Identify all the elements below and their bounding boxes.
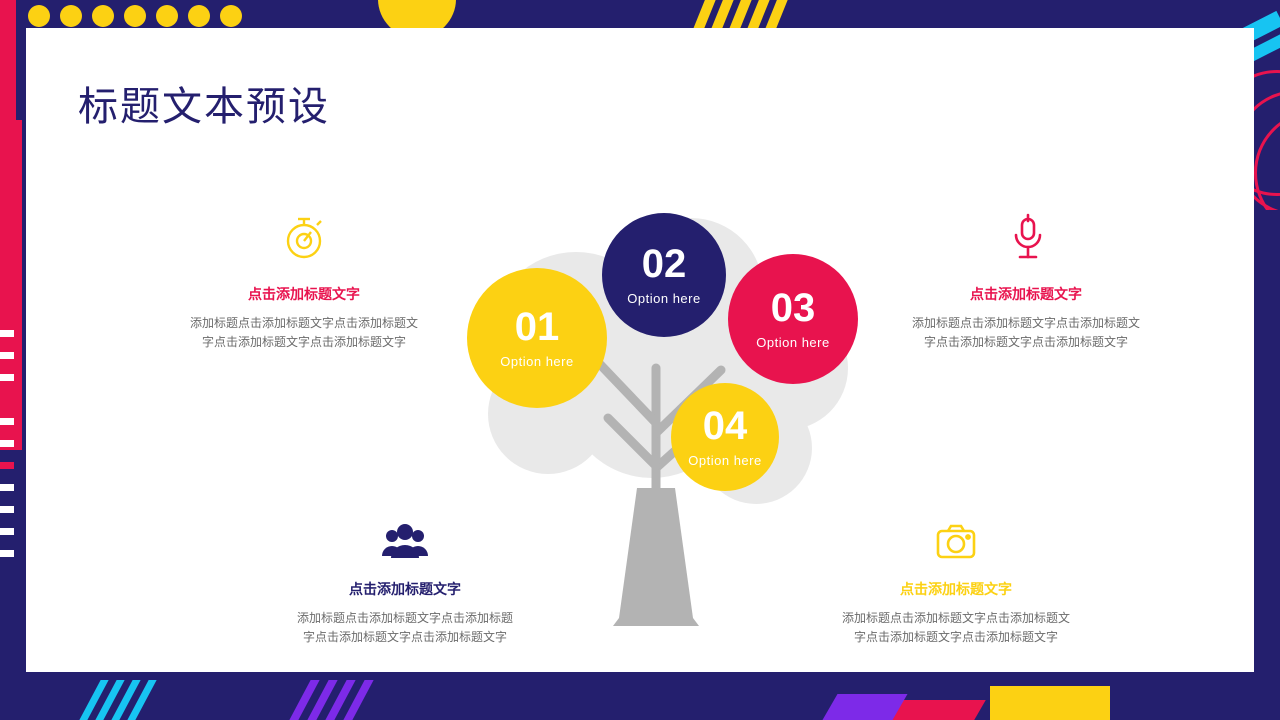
bubble-02[interactable]: 02 Option here bbox=[602, 213, 726, 337]
text-block-2: 点击添加标题文字 添加标题点击添加标题文字点击添加标题文 字点击添加标题文字点击… bbox=[876, 284, 1176, 352]
bubble-01-number: 01 bbox=[515, 307, 560, 347]
text-block-3-line2: 字点击添加标题文字点击添加标题文字 bbox=[255, 628, 555, 647]
people-group-icon bbox=[375, 518, 435, 568]
tick-2 bbox=[0, 352, 14, 359]
background-left-ticks bbox=[0, 330, 20, 590]
text-block-3: 点击添加标题文字 添加标题点击添加标题文字点击添加标题 字点击添加标题文字点击添… bbox=[255, 579, 555, 647]
text-block-4-line2: 字点击添加标题文字点击添加标题文字 bbox=[806, 628, 1106, 647]
dot-5 bbox=[156, 5, 178, 27]
slide-card: 标题文本预设 01 Option here bbox=[26, 28, 1254, 672]
tick-8 bbox=[0, 484, 14, 491]
background-pink-bar-left-top bbox=[0, 0, 16, 120]
bubble-01-option: Option here bbox=[500, 354, 573, 369]
page-title: 标题文本预设 bbox=[78, 74, 330, 132]
microphone-icon bbox=[998, 213, 1058, 263]
tick-1 bbox=[0, 330, 14, 337]
text-block-4: 点击添加标题文字 添加标题点击添加标题文字点击添加标题文 字点击添加标题文字点击… bbox=[806, 579, 1106, 647]
background-dot-row bbox=[28, 5, 242, 27]
tick-10 bbox=[0, 528, 14, 535]
text-block-1-title: 点击添加标题文字 bbox=[154, 284, 454, 304]
text-block-1-line2: 字点击添加标题文字点击添加标题文字 bbox=[154, 333, 454, 352]
bubble-03-number: 03 bbox=[771, 288, 816, 328]
text-block-4-line1: 添加标题点击添加标题文字点击添加标题文 bbox=[806, 609, 1106, 628]
dot-1 bbox=[28, 5, 50, 27]
tick-3 bbox=[0, 374, 14, 381]
dot-2 bbox=[60, 5, 82, 27]
bubble-04[interactable]: 04 Option here bbox=[671, 383, 779, 491]
bubble-02-number: 02 bbox=[642, 244, 687, 284]
dot-6 bbox=[188, 5, 210, 27]
background-bottom-yellow-block bbox=[990, 686, 1110, 720]
text-block-2-line2: 字点击添加标题文字点击添加标题文字 bbox=[876, 333, 1176, 352]
tick-11 bbox=[0, 550, 14, 557]
text-block-1: 点击添加标题文字 添加标题点击添加标题文字点击添加标题文 字点击添加标题文字点击… bbox=[154, 284, 454, 352]
text-block-2-title: 点击添加标题文字 bbox=[876, 284, 1176, 304]
bubble-03[interactable]: 03 Option here bbox=[728, 254, 858, 384]
stopwatch-icon bbox=[274, 213, 334, 263]
tick-6 bbox=[0, 440, 14, 447]
bubble-04-number: 04 bbox=[703, 406, 748, 446]
bubble-02-option: Option here bbox=[627, 291, 700, 306]
bubble-04-option: Option here bbox=[688, 453, 761, 468]
text-block-3-title: 点击添加标题文字 bbox=[255, 579, 555, 599]
text-block-3-line1: 添加标题点击添加标题文字点击添加标题 bbox=[255, 609, 555, 628]
background-yellow-stripes bbox=[700, 0, 820, 30]
text-block-2-line1: 添加标题点击添加标题文字点击添加标题文 bbox=[876, 314, 1176, 333]
background-bottom-purple-stripes bbox=[300, 684, 550, 720]
camera-icon bbox=[926, 518, 986, 568]
tick-7 bbox=[0, 462, 14, 469]
tick-9 bbox=[0, 506, 14, 513]
dot-7 bbox=[220, 5, 242, 27]
text-block-4-title: 点击添加标题文字 bbox=[806, 579, 1106, 599]
background-bottom-chevrons bbox=[90, 684, 270, 720]
dot-3 bbox=[92, 5, 114, 27]
bubble-03-option: Option here bbox=[756, 335, 829, 350]
dot-4 bbox=[124, 5, 146, 27]
text-block-1-line1: 添加标题点击添加标题文字点击添加标题文 bbox=[154, 314, 454, 333]
tick-5 bbox=[0, 418, 14, 425]
bubble-01[interactable]: 01 Option here bbox=[467, 268, 607, 408]
tick-4 bbox=[0, 396, 14, 403]
